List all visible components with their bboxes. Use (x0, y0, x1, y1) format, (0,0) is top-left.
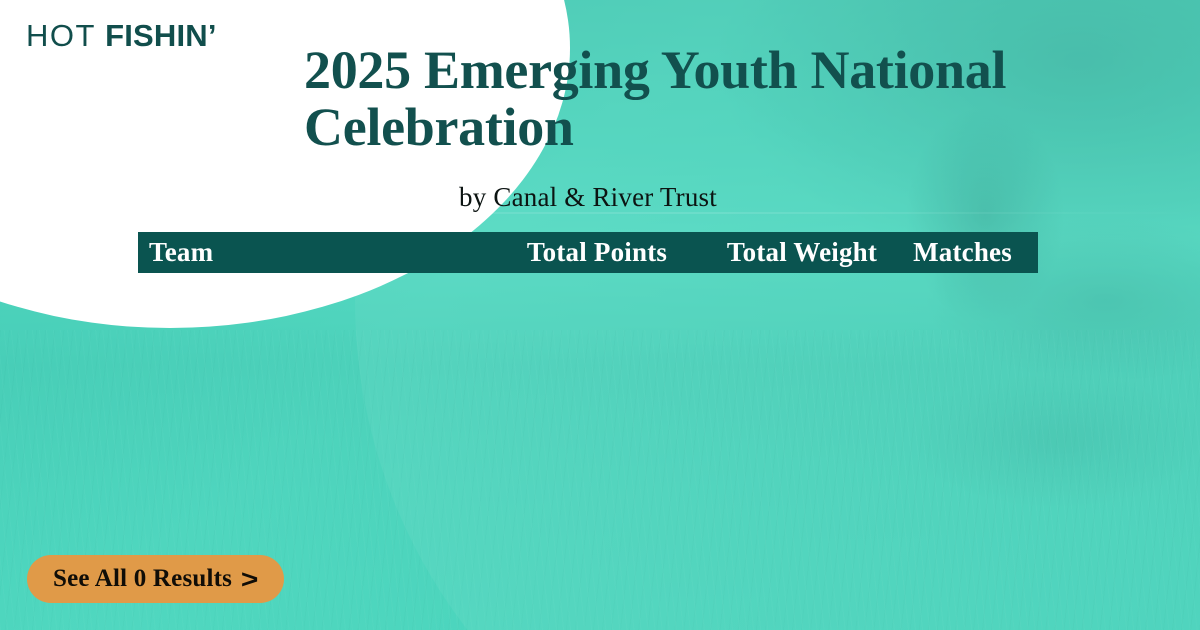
event-summary-card: HOT FISHIN’ 2025 Emerging Youth National… (0, 0, 1200, 630)
chevron-right-icon: > (241, 566, 259, 592)
page-subtitle: by Canal & River Trust (138, 182, 1038, 213)
see-all-results-label: See All 0 Results (53, 565, 232, 593)
column-header-matches[interactable]: Matches (899, 237, 1038, 268)
results-table-header-row: Team Total Points Total Weight Matches (138, 232, 1038, 273)
results-table: Team Total Points Total Weight Matches (138, 232, 1038, 273)
column-header-team[interactable]: Team (138, 237, 489, 268)
column-header-total-points[interactable]: Total Points (489, 237, 705, 268)
brand-logo-primary: HOT (26, 18, 96, 53)
column-header-total-weight[interactable]: Total Weight (705, 237, 899, 268)
page-title: 2025 Emerging Youth National Celebration (304, 42, 1064, 155)
see-all-results-button[interactable]: See All 0 Results > (27, 555, 284, 603)
brand-logo-secondary: FISHIN’ (105, 18, 217, 53)
brand-logo[interactable]: HOT FISHIN’ (26, 20, 217, 51)
